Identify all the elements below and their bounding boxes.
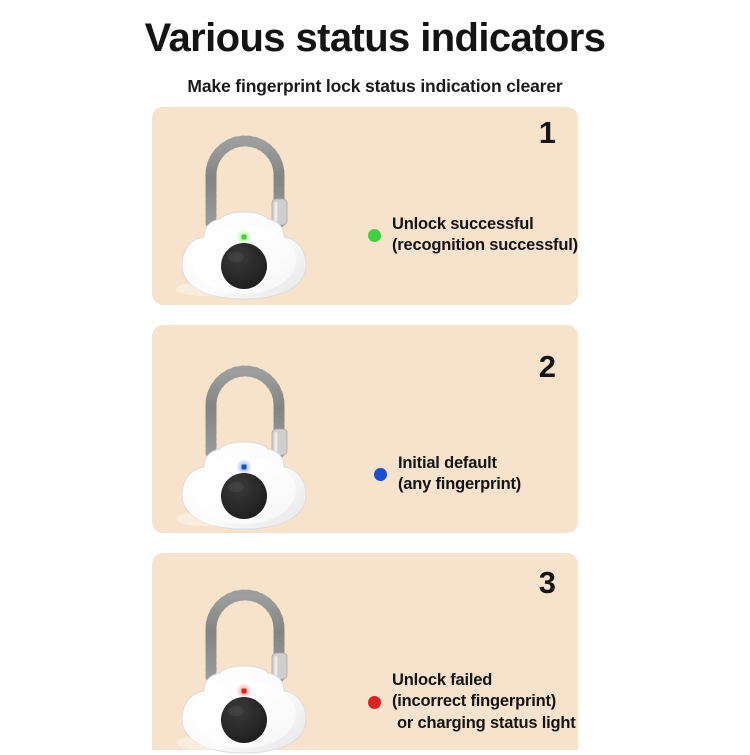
led-dot-green [368, 229, 381, 242]
panel-number-badge: 3 [539, 567, 556, 598]
status-caption-3: Unlock failed (incorrect fingerprint) or… [368, 670, 576, 734]
caption-line: (incorrect fingerprint) [392, 691, 576, 712]
led-dot-blue [374, 468, 387, 481]
fingerprint-sensor[interactable] [221, 243, 267, 289]
caption-line: or charging status light [392, 713, 576, 734]
caption-line: (recognition successful) [392, 235, 578, 256]
caption-line: Unlock failed [392, 670, 576, 691]
padlock-illustration [166, 565, 351, 755]
infographic-page: Various status indicators Make fingerpri… [0, 0, 750, 750]
padlock-illustration [166, 341, 351, 531]
page-subtitle: Make fingerprint lock status indication … [0, 76, 750, 97]
status-panel-2: 2 [152, 325, 578, 533]
padlock-illustration [166, 111, 351, 301]
fingerprint-sensor[interactable] [221, 697, 267, 743]
product-image-fingerprint-padlock [166, 341, 351, 531]
status-panel-1: 1 [152, 107, 578, 305]
status-caption-1: Unlock successful (recognition successfu… [368, 214, 578, 257]
caption-line: Unlock successful [392, 214, 578, 235]
status-led-red [242, 689, 247, 694]
product-image-fingerprint-padlock [166, 565, 351, 755]
status-led-blue [242, 465, 247, 470]
caption-line: Initial default [398, 453, 521, 474]
led-dot-red [368, 696, 381, 709]
panel-number-badge: 1 [539, 117, 556, 148]
product-image-fingerprint-padlock [166, 111, 351, 301]
caption-line: (any fingerprint) [398, 474, 521, 495]
page-title: Various status indicators [0, 16, 750, 60]
panel-number-badge: 2 [539, 351, 556, 382]
caption-text-3: Unlock failed (incorrect fingerprint) or… [392, 670, 576, 734]
fingerprint-sensor[interactable] [221, 473, 267, 519]
status-panel-3: 3 [152, 553, 578, 750]
status-led-green [242, 235, 247, 240]
status-caption-2: Initial default (any fingerprint) [374, 453, 521, 496]
caption-text-2: Initial default (any fingerprint) [398, 453, 521, 496]
caption-text-1: Unlock successful (recognition successfu… [392, 214, 578, 257]
